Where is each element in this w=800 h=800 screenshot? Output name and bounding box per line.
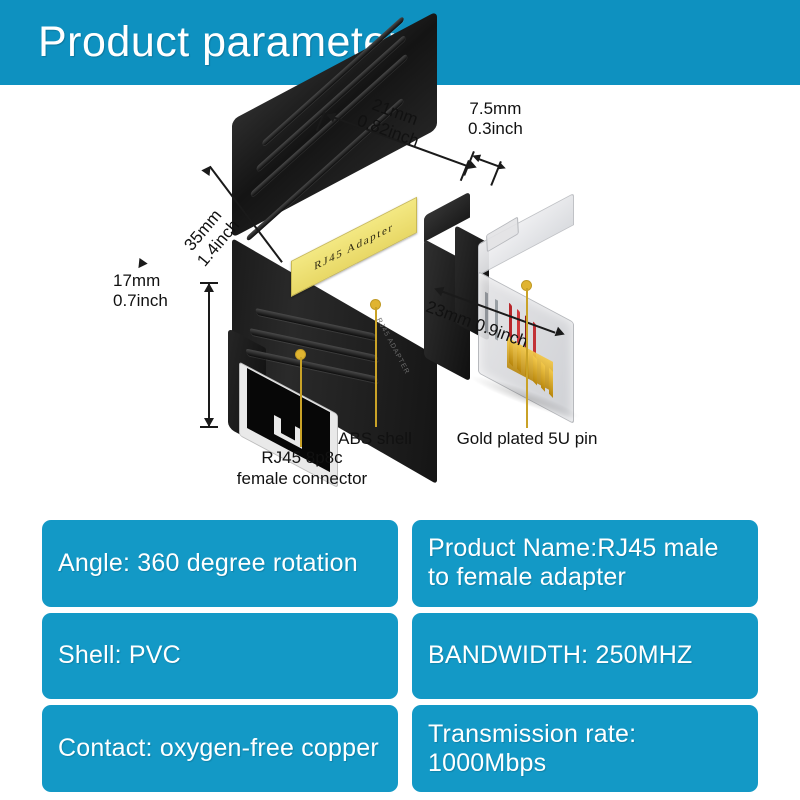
spec-box-product-name: Product Name:RJ45 male to female adapter: [412, 520, 758, 607]
spec-box-bandwidth: BANDWIDTH: 250MHZ: [412, 613, 758, 700]
product-parameters-infographic: Product parameters R: [0, 0, 800, 800]
spec-label-product-name: Product Name:RJ45 male to female adapter: [428, 534, 742, 592]
adapter-sticker: RJ45 Adapter: [291, 197, 417, 297]
product-illustration: RJ45 Adapter: [0, 85, 800, 505]
callout-shell-line1: ABS shell: [315, 428, 435, 449]
spec-label-transmission-rate: Transmission rate: 1000Mbps: [428, 720, 742, 778]
spec-label-contact: Contact: oxygen-free copper: [58, 734, 379, 763]
dimension-height-line2: 0.7inch: [113, 291, 168, 311]
spec-grid: Angle: 360 degree rotation Product Name:…: [42, 520, 758, 792]
dimension-neck-line2: 0.3inch: [468, 119, 523, 139]
spec-label-angle: Angle: 360 degree rotation: [58, 549, 358, 578]
spec-box-angle: Angle: 360 degree rotation: [42, 520, 398, 607]
callout-female-connector-line1: RJ45 8p8c: [207, 447, 397, 468]
callout-gold-pin-line1: Gold plated 5U pin: [447, 428, 607, 449]
spec-box-transmission-rate: Transmission rate: 1000Mbps: [412, 705, 758, 792]
spec-label-bandwidth: BANDWIDTH: 250MHZ: [428, 641, 693, 670]
spec-box-contact: Contact: oxygen-free copper: [42, 705, 398, 792]
dimension-height-line1: 17mm: [113, 271, 168, 291]
callout-female-connector-line2: female connector: [207, 468, 397, 489]
spec-box-shell: Shell: PVC: [42, 613, 398, 700]
dimension-neck-line1: 7.5mm: [468, 99, 523, 119]
sticker-label: RJ45 Adapter: [292, 198, 416, 295]
spec-label-shell: Shell: PVC: [58, 641, 181, 670]
